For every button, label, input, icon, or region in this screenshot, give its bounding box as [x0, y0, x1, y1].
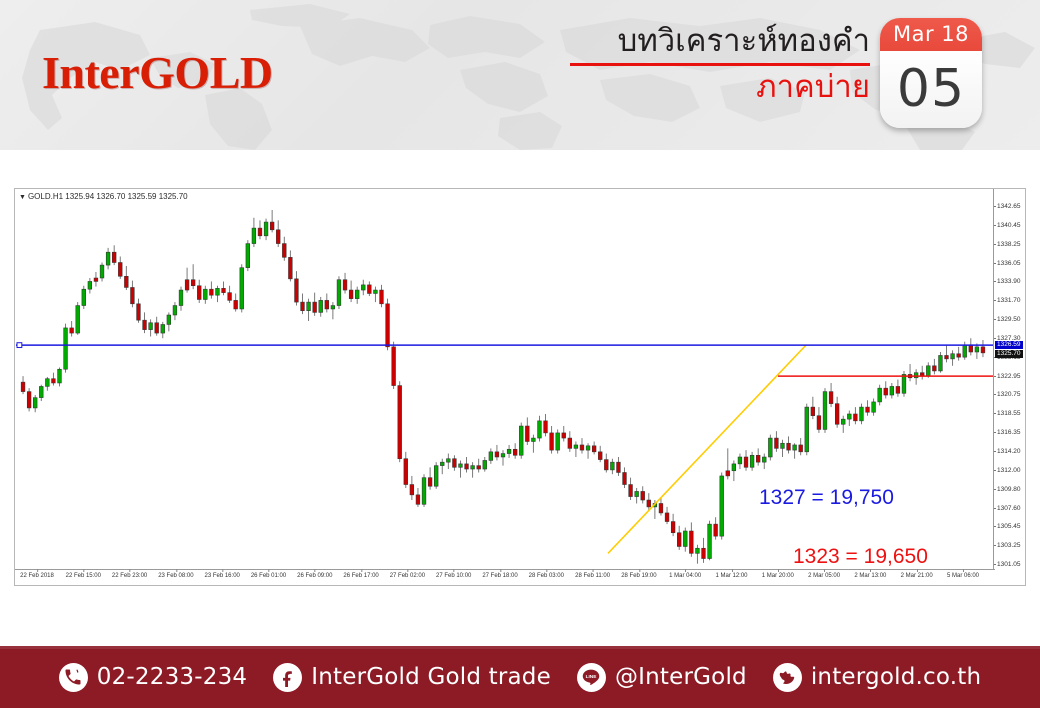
price-tick: 1303.25: [997, 542, 1021, 549]
time-tick: 22 Feb 15:00: [66, 573, 101, 579]
footer-phone-text: 02-2233-234: [97, 664, 248, 690]
time-tick: 26 Feb 17:00: [343, 573, 378, 579]
time-tick: 1 Mar 20:00: [762, 573, 794, 579]
price-tick: 1336.05: [997, 260, 1021, 267]
price-tick: 1338.25: [997, 241, 1021, 248]
title-divider: [570, 63, 870, 66]
price-badge-blue: 1326.59: [995, 341, 1023, 349]
calendar-icon: Mar 18 05: [880, 18, 982, 128]
time-tick: 26 Feb 09:00: [297, 573, 332, 579]
time-tick: 27 Feb 02:00: [390, 573, 425, 579]
time-tick: 27 Feb 18:00: [482, 573, 517, 579]
brand-suffix: GOLD: [139, 47, 272, 98]
annotation-resistance: 1327 = 19,750: [759, 486, 894, 510]
annotation-support: 1323 = 19,650: [793, 545, 928, 569]
footer-line[interactable]: LINE @InterGold: [577, 663, 747, 692]
time-tick: 28 Feb 11:00: [575, 573, 610, 579]
price-tick: 1316.35: [997, 429, 1021, 436]
page-header: InterGOLD บทวิเคราะห์ทองคำ ภาคบ่าย Mar 1…: [0, 0, 1040, 150]
svg-text:LINE: LINE: [586, 674, 597, 680]
phone-icon: [59, 663, 88, 692]
brand-logo: InterGOLD: [42, 46, 273, 99]
symbol-ohlc-text: GOLD.H1 1325.94 1326.70 1325.59 1325.70: [28, 192, 188, 201]
price-axis[interactable]: 1342.651340.451338.251336.051333.901331.…: [993, 189, 1025, 585]
candlestick-plot[interactable]: [16, 201, 994, 569]
price-tick: 1314.20: [997, 448, 1021, 455]
time-tick: 22 Feb 2018: [20, 573, 54, 579]
time-tick: 1 Mar 12:00: [715, 573, 747, 579]
title-line-1: บทวิเคราะห์ทองคำ: [570, 22, 870, 60]
contact-footer: 02-2233-234 InterGold Gold trade LINE @I…: [0, 646, 1040, 708]
time-tick: 28 Feb 03:00: [529, 573, 564, 579]
price-tick: 1320.75: [997, 391, 1021, 398]
calendar-month-label: Mar 18: [880, 18, 982, 51]
chart-symbol-ohlc-label: ▼GOLD.H1 1325.94 1326.70 1325.59 1325.70: [19, 192, 188, 201]
time-tick: 27 Feb 10:00: [436, 573, 471, 579]
time-tick: 2 Mar 05:00: [808, 573, 840, 579]
price-tick: 1301.05: [997, 561, 1021, 568]
price-tick: 1305.45: [997, 523, 1021, 530]
brand-prefix: Inter: [42, 47, 139, 98]
price-tick: 1309.80: [997, 486, 1021, 493]
price-tick: 1333.90: [997, 278, 1021, 285]
time-tick: 23 Feb 08:00: [158, 573, 193, 579]
time-tick: 1 Mar 04:00: [669, 573, 701, 579]
time-tick: 2 Mar 13:00: [854, 573, 886, 579]
facebook-icon: [273, 663, 302, 692]
globe-icon: [773, 663, 802, 692]
footer-line-text: @InterGold: [615, 664, 747, 690]
footer-website[interactable]: intergold.co.th: [773, 663, 981, 692]
time-tick: 2 Mar 21:00: [901, 573, 933, 579]
price-tick: 1322.95: [997, 373, 1021, 380]
price-tick: 1329.50: [997, 316, 1021, 323]
time-tick: 5 Mar 06:00: [947, 573, 979, 579]
footer-phone[interactable]: 02-2233-234: [59, 663, 248, 692]
calendar-day-number: 05: [880, 51, 982, 128]
price-tick: 1307.60: [997, 505, 1021, 512]
price-tick: 1331.70: [997, 297, 1021, 304]
analysis-title-block: บทวิเคราะห์ทองคำ ภาคบ่าย: [570, 22, 870, 106]
time-tick: 22 Feb 23:00: [112, 573, 147, 579]
footer-facebook[interactable]: InterGold Gold trade: [273, 663, 551, 692]
time-tick: 28 Feb 19:00: [621, 573, 656, 579]
price-tick: 1318.55: [997, 410, 1021, 417]
time-tick: 23 Feb 16:00: [205, 573, 240, 579]
time-axis[interactable]: 22 Feb 201822 Feb 15:0022 Feb 23:0023 Fe…: [15, 569, 995, 585]
chevron-down-icon[interactable]: ▼: [19, 194, 26, 201]
footer-facebook-text: InterGold Gold trade: [311, 664, 551, 690]
time-tick: 26 Feb 01:00: [251, 573, 286, 579]
price-tick: 1342.65: [997, 203, 1021, 210]
line-icon: LINE: [577, 663, 606, 692]
title-line-2: ภาคบ่าย: [570, 68, 870, 106]
price-tick: 1312.00: [997, 467, 1021, 474]
footer-website-text: intergold.co.th: [811, 664, 981, 690]
price-badge-black: 1325.70: [995, 350, 1023, 358]
trading-chart-panel[interactable]: ▼GOLD.H1 1325.94 1326.70 1325.59 1325.70…: [14, 188, 1026, 586]
price-tick: 1340.45: [997, 222, 1021, 229]
